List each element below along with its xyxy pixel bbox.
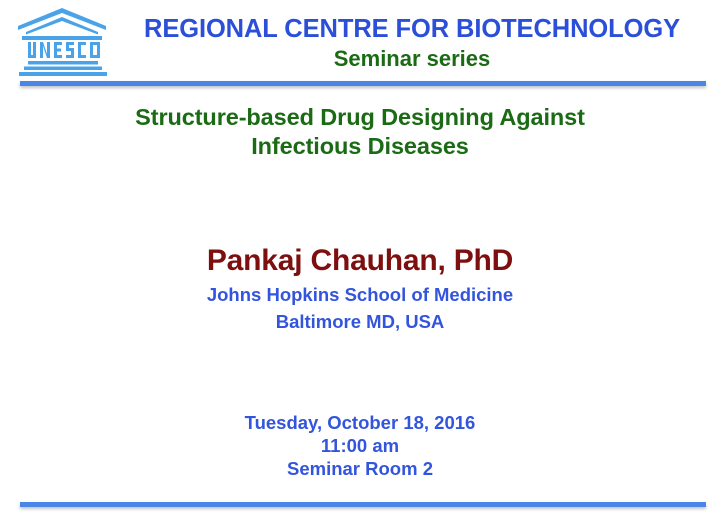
speaker-name: Pankaj Chauhan, PhD: [0, 243, 720, 279]
talk-title-line-2: Infectious Diseases: [0, 132, 720, 161]
unesco-temple-icon: [14, 6, 112, 80]
header-divider: [20, 81, 706, 86]
unesco-logo: [14, 6, 112, 80]
event-date: Tuesday, October 18, 2016: [0, 411, 720, 434]
speaker-location: Baltimore MD, USA: [0, 310, 720, 333]
event-venue: Seminar Room 2: [0, 457, 720, 480]
event-details: Tuesday, October 18, 2016 11:00 am Semin…: [0, 411, 720, 480]
seminar-poster: REGIONAL CENTRE FOR BIOTECHNOLOGY Semina…: [0, 0, 720, 514]
organization-block: REGIONAL CENTRE FOR BIOTECHNOLOGY Semina…: [112, 14, 712, 72]
talk-title: Structure-based Drug Designing Against I…: [0, 103, 720, 161]
event-time: 11:00 am: [0, 434, 720, 457]
speaker-block: Pankaj Chauhan, PhD Johns Hopkins School…: [0, 243, 720, 333]
footer-divider: [20, 502, 706, 507]
series-subtitle: Seminar series: [112, 45, 712, 72]
organization-title: REGIONAL CENTRE FOR BIOTECHNOLOGY: [112, 14, 712, 44]
talk-title-line-1: Structure-based Drug Designing Against: [0, 103, 720, 132]
speaker-affiliation: Johns Hopkins School of Medicine: [0, 283, 720, 306]
poster-header: REGIONAL CENTRE FOR BIOTECHNOLOGY Semina…: [0, 0, 720, 82]
